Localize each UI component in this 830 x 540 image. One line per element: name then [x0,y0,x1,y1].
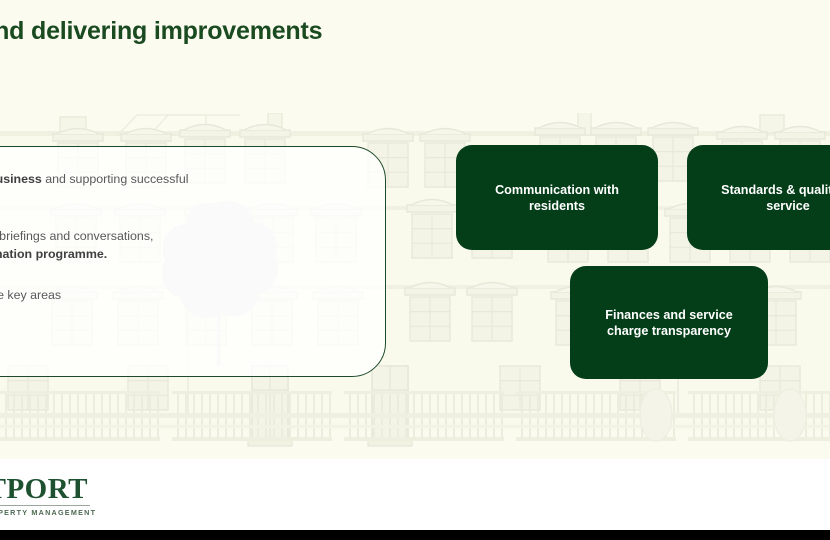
key-area-box-standards[interactable]: Standards & quality of service [687,145,830,250]
summary-paragraph-3-rest: in three key areas [0,288,61,302]
logo-wordmark: STPORT [0,474,160,504]
key-area-box-finances[interactable]: Finances and service charge transparency [570,266,768,379]
summary-paragraph-1-bold: ommitted to improving our business [0,172,42,186]
key-area-box-communication[interactable]: Communication with residents [456,145,658,250]
bottom-bar [0,530,830,540]
summary-paragraph-2-bold: nforming about our transformation progra… [0,247,107,261]
logo-divider [0,505,90,506]
presentation-slide: ening and delivering improvements ommitt… [0,0,830,530]
summary-paragraph-2: eliver widespread constituency briefings… [0,228,359,263]
logo-tagline: L PROPERTY MANAGEMENT [0,508,160,517]
summary-paragraph-3: ommitment on change in three key areas [0,287,359,305]
summary-card: ommitted to improving our business and s… [0,146,386,377]
westport-logo: STPORT L PROPERTY MANAGEMENT [0,474,160,516]
page-title: ening and delivering improvements [0,17,608,46]
summary-paragraph-1: ommitted to improving our business and s… [0,171,359,206]
summary-paragraph-2-line1: eliver widespread constituency briefings… [0,229,153,243]
summary-paragraph-1-rest: and supporting successful [42,172,189,186]
